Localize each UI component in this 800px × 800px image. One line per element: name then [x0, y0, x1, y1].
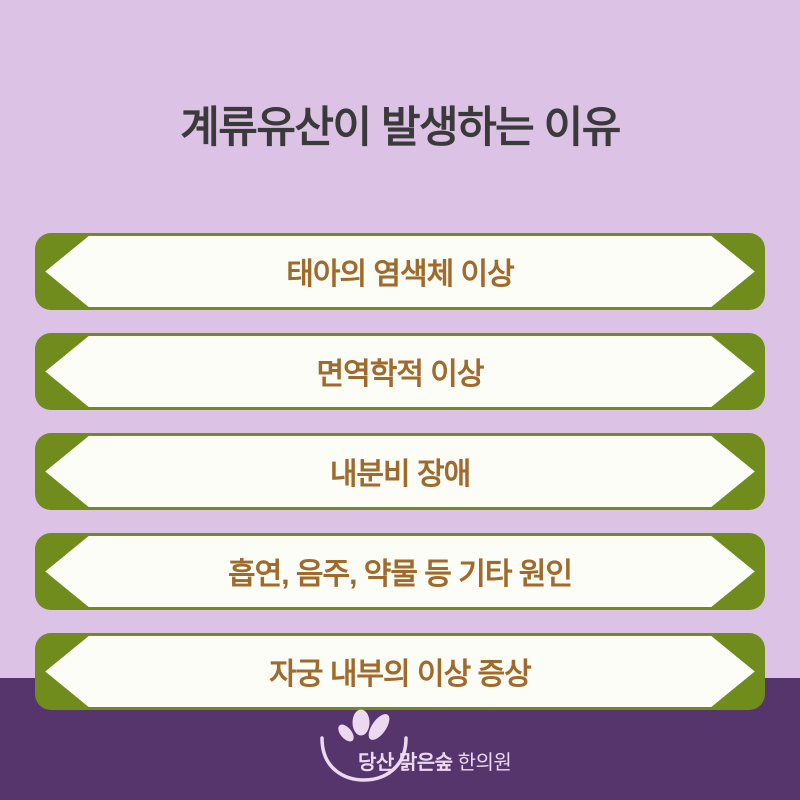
list-item: 내분비 장애	[35, 433, 765, 510]
reason-list: 태아의 염색체 이상 면역학적 이상 내분비 장애 흡연, 음주, 약물 등 기…	[35, 233, 765, 733]
poster-canvas: 계류유산이 발생하는 이유 태아의 염색체 이상 면역학적 이상 내분비 장애 …	[0, 0, 800, 800]
logo-name-strong: 당산 맑은숲	[358, 752, 453, 774]
logo-wordmark: 당산 맑은숲 한의원	[358, 746, 511, 775]
list-item-label: 내분비 장애	[35, 433, 765, 510]
list-item-label: 태아의 염색체 이상	[35, 233, 765, 310]
list-item: 자궁 내부의 이상 증상	[35, 633, 765, 710]
list-item: 흡연, 음주, 약물 등 기타 원인	[35, 533, 765, 610]
list-item-label: 자궁 내부의 이상 증상	[35, 633, 765, 710]
list-item: 태아의 염색체 이상	[35, 233, 765, 310]
page-title: 계류유산이 발생하는 이유	[0, 103, 800, 155]
clinic-logo: 당산 맑은숲 한의원	[0, 708, 800, 782]
logo-name-light: 한의원	[458, 752, 512, 774]
leaf-center-icon	[353, 710, 370, 736]
logo-mark: 당산 맑은숲 한의원	[302, 708, 498, 782]
list-item: 면역학적 이상	[35, 333, 765, 410]
list-item-label: 흡연, 음주, 약물 등 기타 원인	[35, 533, 765, 610]
list-item-label: 면역학적 이상	[35, 333, 765, 410]
